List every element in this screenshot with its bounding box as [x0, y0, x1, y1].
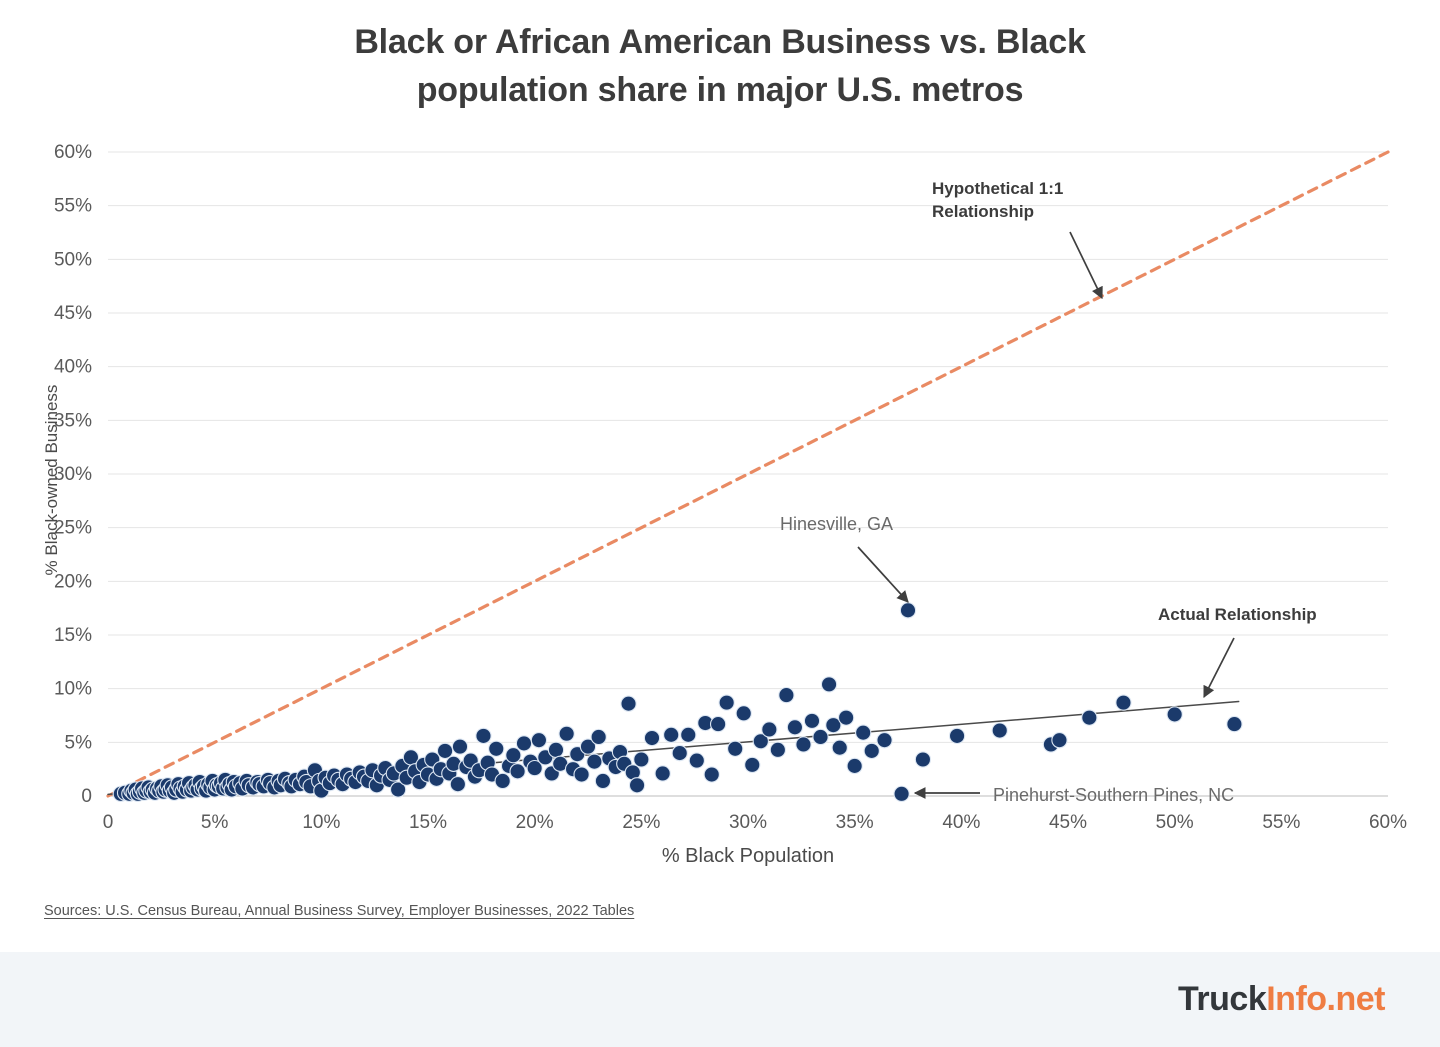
y-tick-label: 55%	[54, 196, 92, 217]
scatter-point	[644, 730, 659, 745]
brand-primary: Truck	[1178, 980, 1266, 1018]
scatter-point	[531, 733, 546, 748]
scatter-point	[839, 710, 854, 725]
y-tick-label: 10%	[54, 679, 92, 700]
scatter-point	[664, 727, 679, 742]
scatter-point	[796, 737, 811, 752]
scatter-point	[894, 786, 909, 801]
x-tick-label: 35%	[836, 812, 874, 833]
scatter-point	[510, 764, 525, 779]
x-tick-label: 0	[103, 812, 114, 833]
annotation-hypothetical-label: Hypothetical 1:1 Relationship	[932, 178, 1063, 224]
scatter-point	[574, 767, 589, 782]
scatter-point	[587, 754, 602, 769]
x-tick-label: 55%	[1262, 812, 1300, 833]
scatter-point	[728, 741, 743, 756]
scatter-point	[779, 688, 794, 703]
scatter-point	[452, 739, 467, 754]
scatter-point	[770, 742, 785, 757]
x-tick-label: 15%	[409, 812, 447, 833]
x-tick-label: 10%	[302, 812, 340, 833]
scatter-point	[672, 745, 687, 760]
y-tick-label: 15%	[54, 625, 92, 646]
scatter-point	[548, 742, 563, 757]
scatter-point	[629, 778, 644, 793]
scatter-point	[787, 720, 802, 735]
scatter-point	[689, 753, 704, 768]
brand-secondary: Info.net	[1266, 980, 1385, 1018]
y-tick-label: 45%	[54, 303, 92, 324]
scatter-point	[1227, 716, 1242, 731]
scatter-point	[681, 727, 696, 742]
y-axis-title: % Black-owned Business	[42, 340, 62, 620]
scatter-point	[704, 767, 719, 782]
annotation-arrow-actual-relationship	[1204, 638, 1234, 697]
scatter-point	[864, 743, 879, 758]
y-tick-label: 0	[81, 786, 92, 807]
scatter-point	[559, 726, 574, 741]
scatter-point	[992, 723, 1007, 738]
scatter-point	[900, 603, 915, 618]
scatter-point	[655, 766, 670, 781]
scatter-point	[847, 758, 862, 773]
x-tick-label: 45%	[1049, 812, 1087, 833]
scatter-point	[437, 743, 452, 758]
x-tick-label: 5%	[201, 812, 229, 833]
scatter-point	[489, 741, 504, 756]
x-tick-labels: 05%10%15%20%25%30%35%40%45%50%55%60%	[103, 812, 1407, 833]
annotation-actual-label: Actual Relationship	[1158, 604, 1317, 627]
scatter-point	[450, 777, 465, 792]
scatter-point	[711, 716, 726, 731]
scatter-point	[495, 773, 510, 788]
scatter-point	[1052, 733, 1067, 748]
infographic-page: Black or African American Business vs. B…	[0, 0, 1440, 1047]
annotation-hinesville-label: Hinesville, GA	[780, 512, 893, 536]
scatter-point	[1082, 710, 1097, 725]
scatter-point	[832, 740, 847, 755]
y-tick-label: 60%	[54, 142, 92, 163]
x-tick-label: 60%	[1369, 812, 1407, 833]
scatter-point	[1167, 707, 1182, 722]
scatter-point	[1116, 695, 1131, 710]
scatter-point	[762, 722, 777, 737]
brand-logo[interactable]: TruckInfo.net	[1178, 980, 1385, 1019]
scatter-point	[856, 725, 871, 740]
x-tick-label: 50%	[1156, 812, 1194, 833]
scatter-point	[719, 695, 734, 710]
scatter-points	[113, 603, 1242, 802]
scatter-point	[476, 728, 491, 743]
source-note: Sources: U.S. Census Bureau, Annual Busi…	[44, 903, 634, 919]
x-tick-label: 40%	[942, 812, 980, 833]
x-tick-label: 20%	[516, 812, 554, 833]
scatter-point	[745, 757, 760, 772]
scatter-point	[877, 733, 892, 748]
scatter-point	[591, 729, 606, 744]
scatter-point	[506, 748, 521, 763]
scatter-point	[516, 736, 531, 751]
annotation-arrow-hinesville-ga	[858, 547, 908, 602]
scatter-point	[813, 729, 828, 744]
x-axis-title: % Black Population	[108, 845, 1388, 868]
scatter-point	[621, 696, 636, 711]
scatter-point	[595, 773, 610, 788]
scatter-point	[736, 706, 751, 721]
x-tick-label: 25%	[622, 812, 660, 833]
scatter-point	[915, 752, 930, 767]
chart-canvas: 05%10%15%20%25%30%35%40%45%50%55%60%05%1…	[0, 0, 1440, 900]
scatter-point	[804, 713, 819, 728]
annotation-arrow-hypothetical-1-1	[1070, 232, 1102, 298]
scatter-chart: 05%10%15%20%25%30%35%40%45%50%55%60%05%1…	[0, 0, 1440, 900]
y-tick-label: 5%	[65, 732, 93, 753]
x-tick-label: 30%	[729, 812, 767, 833]
scatter-point	[949, 728, 964, 743]
scatter-point	[821, 677, 836, 692]
annotation-pinehurst-label: Pinehurst-Southern Pines, NC	[993, 783, 1234, 807]
scatter-point	[634, 752, 649, 767]
y-tick-label: 50%	[54, 249, 92, 270]
